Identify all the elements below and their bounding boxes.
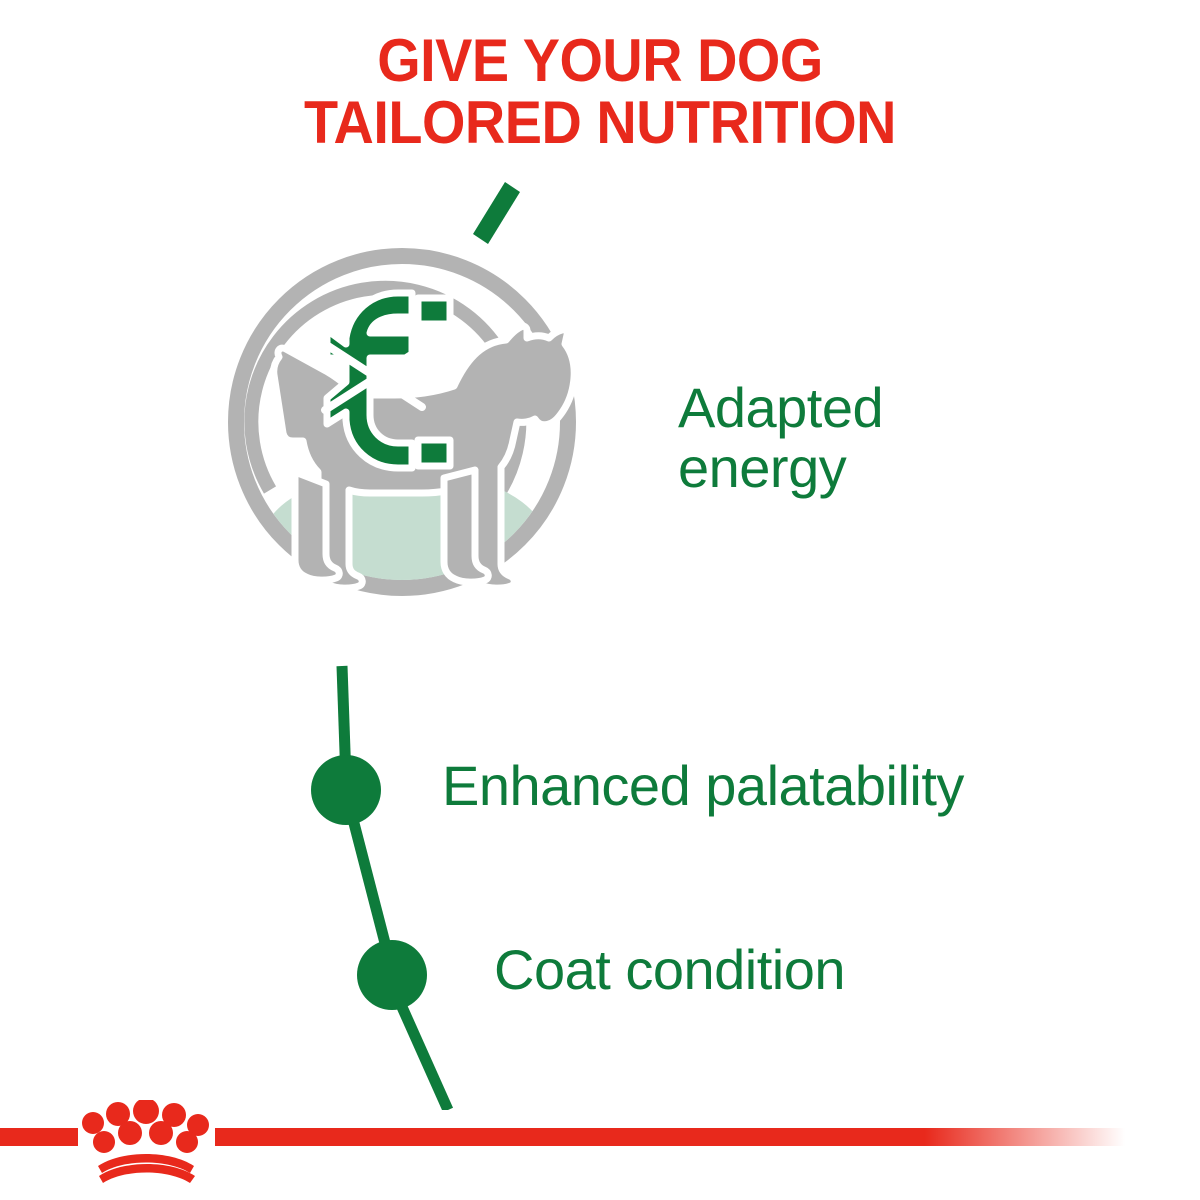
connector-segment-3 — [398, 998, 448, 1110]
connector-node-2 — [357, 940, 427, 1010]
crown-dot-low-1 — [93, 1131, 115, 1153]
footer-rule-right — [215, 1128, 1125, 1146]
page-title: GIVE YOUR DOG TAILORED NUTRITION — [42, 30, 1158, 154]
benefit-label-enhanced-palatability: Enhanced palatability — [442, 756, 1182, 816]
crown-dot-top-3 — [133, 1100, 159, 1124]
crown-dot-low-3 — [149, 1121, 173, 1145]
benefit-connector-path — [280, 650, 540, 1110]
benefit-label-coat-condition: Coat condition — [494, 940, 1034, 1000]
dog-badge-icon — [222, 172, 622, 672]
benefit-label-adapted-energy: Adapted energy — [678, 378, 1018, 499]
adapted-energy-badge-illustration — [222, 172, 622, 672]
crown-dot-low-2 — [118, 1121, 142, 1145]
infographic-page: GIVE YOUR DOG TAILORED NUTRITION — [0, 0, 1200, 1200]
headline-line-2: TAILORED NUTRITION — [42, 92, 1158, 154]
footer-rule-left — [0, 1128, 78, 1146]
connector-svg — [280, 650, 540, 1110]
royal-canin-crown-logo — [82, 1100, 209, 1183]
connector-node-1 — [311, 755, 381, 825]
footer-svg — [0, 1100, 1200, 1200]
crown-dot-top-1 — [82, 1112, 104, 1134]
green-accent-tick-icon — [473, 182, 520, 244]
footer-brand-bar — [0, 1100, 1200, 1200]
crown-dot-low-4 — [176, 1131, 198, 1153]
headline-line-1: GIVE YOUR DOG — [42, 30, 1158, 92]
